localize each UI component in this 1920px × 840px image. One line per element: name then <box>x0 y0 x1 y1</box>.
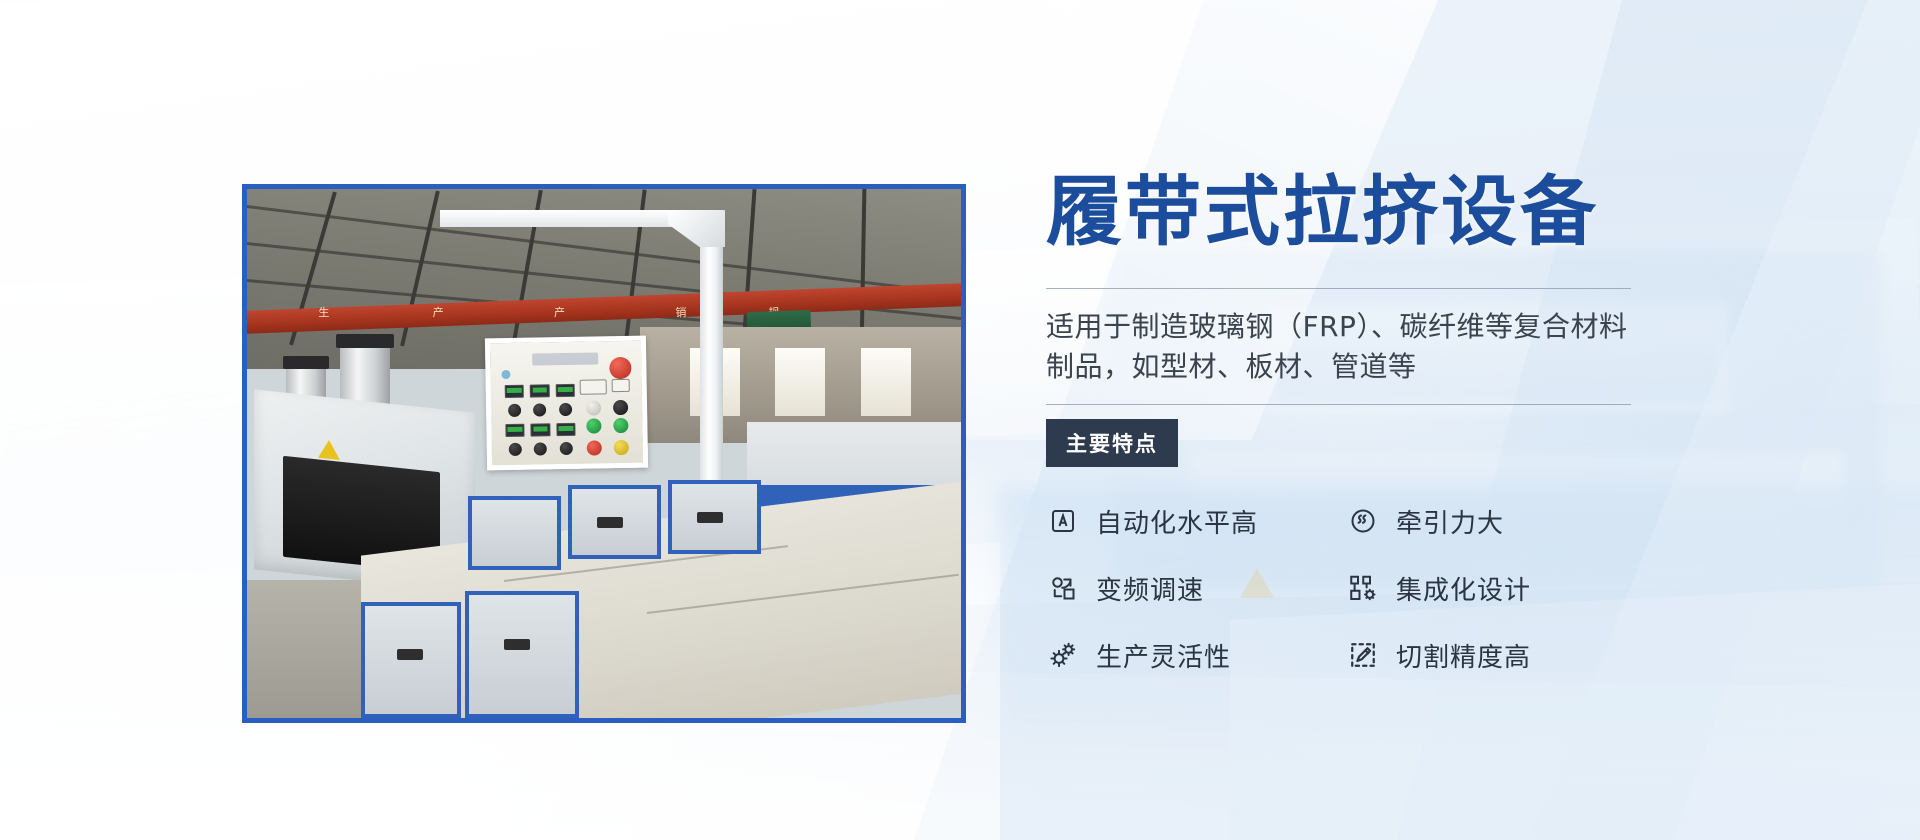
photo-panel-gauge <box>580 379 607 394</box>
feature-item-vfd[interactable]: 变频调速 <box>1046 570 1346 607</box>
banner-content: 履带式拉挤设备 适用于制造玻璃钢（FRP）、碳纤维等复合材料制品，如型材、板材、… <box>1046 172 1706 674</box>
integration-nodes-icon <box>1346 571 1380 605</box>
photo-panel-lamp-green <box>586 419 601 434</box>
photo-window <box>775 348 825 417</box>
photo-control-panel <box>485 336 648 471</box>
gears-icon <box>1046 638 1080 672</box>
feature-label: 切割精度高 <box>1396 637 1531 674</box>
photo-crane-text: 销 <box>675 304 688 320</box>
photo-cabinet <box>465 591 579 718</box>
divider-bottom <box>1046 404 1631 405</box>
photo-panel-knob <box>508 404 521 417</box>
photo-panel-lamp-red <box>587 441 602 456</box>
photo-crane-text: 产 <box>554 304 567 320</box>
photo-panel-knob <box>508 443 521 456</box>
photo-cabinet <box>468 496 561 570</box>
photo-panel-meter <box>556 384 576 398</box>
photo-panel-knob <box>533 404 546 417</box>
photo-crane-text: 产 <box>433 304 446 320</box>
product-photo-card: 生 产 产 销 规 <box>242 184 966 723</box>
photo-cabinet-handle <box>504 639 530 650</box>
divider-top <box>1046 288 1631 289</box>
frequency-speed-icon <box>1046 571 1080 605</box>
photo-panel-logo <box>532 353 598 366</box>
precision-pen-dashed-icon <box>1346 638 1380 672</box>
photo-cabinet-handle <box>597 517 623 528</box>
feature-label: 自动化水平高 <box>1096 503 1258 540</box>
photo-panel-meter <box>504 384 524 398</box>
photo-panel-lamp-yellow <box>614 440 629 455</box>
product-banner: 生 产 产 销 规 <box>0 0 1920 840</box>
product-photo: 生 产 产 销 规 <box>247 189 961 718</box>
page-subtitle: 适用于制造玻璃钢（FRP）、碳纤维等复合材料制品，如型材、板材、管道等 <box>1046 307 1646 388</box>
feature-list: 自动化水平高 牵引力大 <box>1046 503 1706 674</box>
photo-panel-knob <box>559 403 572 416</box>
photo-cylinder-cap <box>283 356 329 369</box>
watermark-triangle-icon <box>1240 568 1274 598</box>
photo-panel-meter <box>556 423 576 437</box>
photo-panel-lamp <box>501 370 510 379</box>
photo-panel-knob <box>613 400 628 415</box>
status-badge: 主要特点 <box>1046 419 1178 467</box>
photo-panel-display <box>611 379 629 393</box>
page-title: 履带式拉挤设备 <box>1046 172 1706 252</box>
photo-panel-lamp-green <box>613 418 628 433</box>
photo-panel-meter <box>505 424 525 438</box>
feature-item-flexibility[interactable]: 生产灵活性 <box>1046 637 1346 674</box>
photo-cabinet-handle <box>697 512 723 523</box>
photo-cylinder-cap <box>336 334 395 348</box>
photo-crane-text: 生 <box>318 304 331 320</box>
feature-label: 变频调速 <box>1096 570 1204 607</box>
feature-item-integration[interactable]: 集成化设计 <box>1346 570 1646 607</box>
photo-panel-meter <box>530 384 550 398</box>
feature-item-traction[interactable]: 牵引力大 <box>1346 503 1646 540</box>
feature-label: 集成化设计 <box>1396 570 1531 607</box>
photo-panel-knob <box>534 443 547 456</box>
photo-cabinet-handle <box>397 649 423 660</box>
photo-window <box>861 348 911 417</box>
photo-panel-knob <box>560 442 573 455</box>
feature-label: 生产灵活性 <box>1096 637 1231 674</box>
feature-label: 牵引力大 <box>1396 503 1504 540</box>
feature-item-precision[interactable]: 切割精度高 <box>1346 637 1646 674</box>
feature-item-automation[interactable]: 自动化水平高 <box>1046 503 1346 540</box>
photo-gantry-top-rail <box>440 210 704 227</box>
photo-emergency-stop <box>609 357 631 379</box>
traction-waves-circle-icon <box>1346 504 1380 538</box>
automation-square-a-icon <box>1046 504 1080 538</box>
photo-panel-knob <box>586 400 601 415</box>
photo-panel-meter <box>531 423 551 437</box>
